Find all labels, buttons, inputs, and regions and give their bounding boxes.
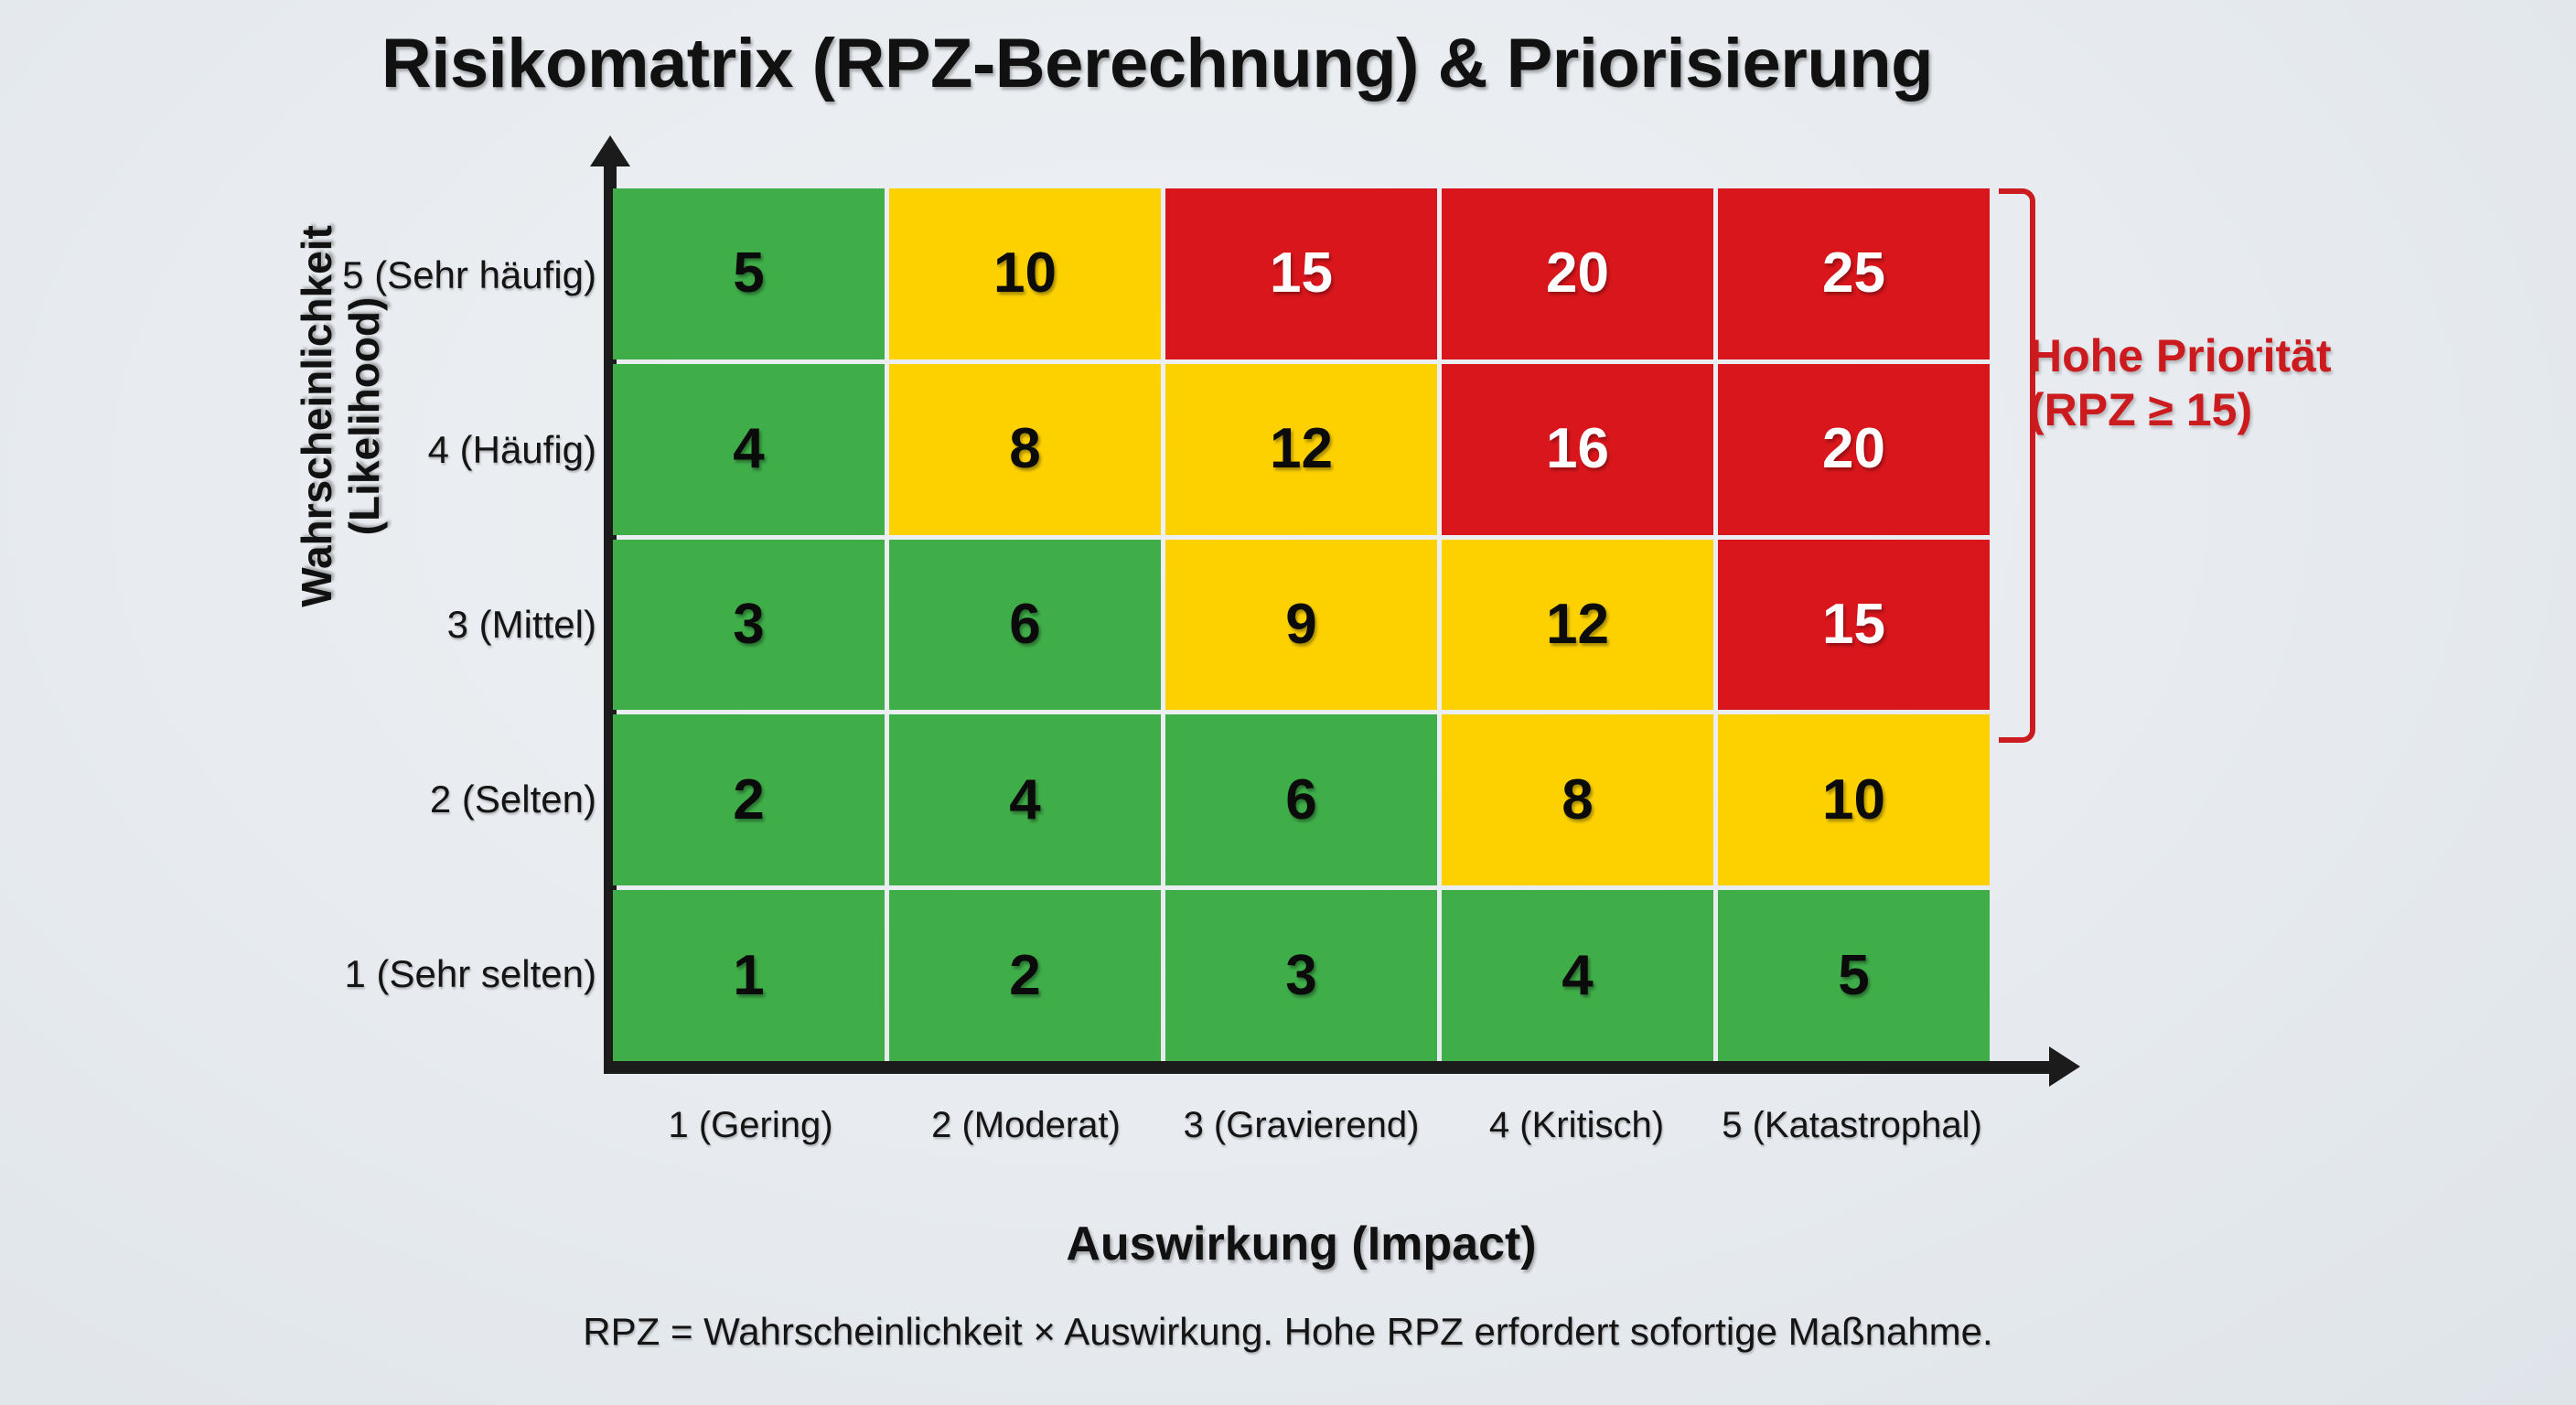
matrix-cell[interactable]: 12 bbox=[1165, 364, 1437, 535]
matrix-cell[interactable]: 15 bbox=[1165, 188, 1437, 359]
cell-value: 6 bbox=[1009, 596, 1040, 653]
y-tick-label-1: 1 (Sehr selten) bbox=[0, 952, 596, 996]
cell-value: 15 bbox=[1270, 245, 1333, 302]
cell-value: 9 bbox=[1285, 596, 1316, 653]
chart-canvas: Risikomatrix (RPZ-Berechnung) & Priorisi… bbox=[0, 0, 2576, 1405]
matrix-cell[interactable]: 20 bbox=[1442, 188, 1713, 359]
cell-value: 4 bbox=[733, 421, 764, 477]
matrix-cell[interactable]: 4 bbox=[889, 714, 1161, 885]
cell-value: 6 bbox=[1285, 772, 1316, 829]
cell-value: 3 bbox=[733, 596, 764, 653]
matrix-cell[interactable]: 16 bbox=[1442, 364, 1713, 535]
high-priority-bracket-icon bbox=[1999, 188, 2035, 743]
matrix-cell[interactable]: 3 bbox=[1165, 890, 1437, 1061]
cell-value: 15 bbox=[1822, 596, 1885, 653]
cell-value: 25 bbox=[1822, 245, 1885, 302]
matrix-cell[interactable]: 2 bbox=[889, 890, 1161, 1061]
matrix-cell[interactable]: 5 bbox=[613, 188, 885, 359]
high-priority-line2: (RPZ ≥ 15) bbox=[2029, 383, 2541, 437]
matrix-cell[interactable]: 2 bbox=[613, 714, 885, 885]
cell-value: 16 bbox=[1546, 421, 1609, 477]
cell-value: 2 bbox=[1009, 948, 1040, 1004]
matrix-cell[interactable]: 15 bbox=[1718, 540, 1990, 711]
cell-value: 2 bbox=[733, 772, 764, 829]
matrix-cell[interactable]: 6 bbox=[889, 540, 1161, 711]
cell-value: 12 bbox=[1270, 421, 1333, 477]
matrix-cell[interactable]: 10 bbox=[889, 188, 1161, 359]
cell-value: 8 bbox=[1562, 772, 1593, 829]
x-tick-label-2: 2 (Moderat) bbox=[888, 1105, 1164, 1146]
y-axis-arrowhead-icon bbox=[590, 135, 630, 166]
x-axis-tick-labels: 1 (Gering) 2 (Moderat) 3 (Gravierend) 4 … bbox=[613, 1105, 1990, 1146]
matrix-cell[interactable]: 25 bbox=[1718, 188, 1990, 359]
x-tick-label-1: 1 (Gering) bbox=[613, 1105, 888, 1146]
cell-value: 4 bbox=[1009, 772, 1040, 829]
y-axis-title: Wahrscheinlichkeit (Likelihood) bbox=[294, 160, 394, 672]
cell-value: 20 bbox=[1546, 245, 1609, 302]
x-tick-label-4: 4 (Kritisch) bbox=[1439, 1105, 1714, 1146]
matrix-cell[interactable]: 1 bbox=[613, 890, 885, 1061]
x-tick-label-5: 5 (Katastrophal) bbox=[1714, 1105, 1990, 1146]
matrix-cell[interactable]: 12 bbox=[1442, 540, 1713, 711]
risk-matrix-grid: 5 10 15 20 25 4 8 12 16 20 3 6 9 12 15 2… bbox=[613, 188, 1990, 1061]
y-tick-label-2: 2 (Selten) bbox=[0, 778, 596, 821]
matrix-cell[interactable]: 6 bbox=[1165, 714, 1437, 885]
matrix-cell[interactable]: 10 bbox=[1718, 714, 1990, 885]
cell-value: 4 bbox=[1562, 948, 1593, 1004]
matrix-cell[interactable]: 4 bbox=[613, 364, 885, 535]
cell-value: 10 bbox=[993, 245, 1057, 302]
x-axis-title: Auswirkung (Impact) bbox=[613, 1217, 1990, 1271]
y-axis-title-line1: Wahrscheinlichkeit bbox=[294, 160, 341, 672]
matrix-cell[interactable]: 3 bbox=[613, 540, 885, 711]
y-axis-title-line2: (Likelihood) bbox=[341, 160, 389, 672]
x-axis-arrowhead-icon bbox=[2049, 1046, 2080, 1087]
matrix-cell[interactable]: 20 bbox=[1718, 364, 1990, 535]
cell-value: 12 bbox=[1546, 596, 1609, 653]
cell-value: 5 bbox=[733, 245, 764, 302]
matrix-cell[interactable]: 4 bbox=[1442, 890, 1713, 1061]
matrix-cell[interactable]: 9 bbox=[1165, 540, 1437, 711]
page-title: Risikomatrix (RPZ-Berechnung) & Priorisi… bbox=[0, 24, 2314, 103]
x-tick-label-3: 3 (Gravierend) bbox=[1164, 1105, 1439, 1146]
footnote: RPZ = Wahrscheinlichkeit × Auswirkung. H… bbox=[0, 1310, 2576, 1354]
cell-value: 3 bbox=[1285, 948, 1316, 1004]
cell-value: 5 bbox=[1838, 948, 1869, 1004]
cell-value: 8 bbox=[1009, 421, 1040, 477]
matrix-cell[interactable]: 5 bbox=[1718, 890, 1990, 1061]
matrix-cell[interactable]: 8 bbox=[1442, 714, 1713, 885]
x-axis-line bbox=[604, 1061, 2058, 1074]
high-priority-annotation: Hohe Priorität (RPZ ≥ 15) bbox=[2029, 329, 2541, 437]
risk-matrix-plot: 5 10 15 20 25 4 8 12 16 20 3 6 9 12 15 2… bbox=[613, 188, 1990, 1061]
cell-value: 10 bbox=[1822, 772, 1885, 829]
matrix-cell[interactable]: 8 bbox=[889, 364, 1161, 535]
high-priority-line1: Hohe Priorität bbox=[2029, 329, 2541, 383]
cell-value: 20 bbox=[1822, 421, 1885, 477]
cell-value: 1 bbox=[733, 948, 764, 1004]
